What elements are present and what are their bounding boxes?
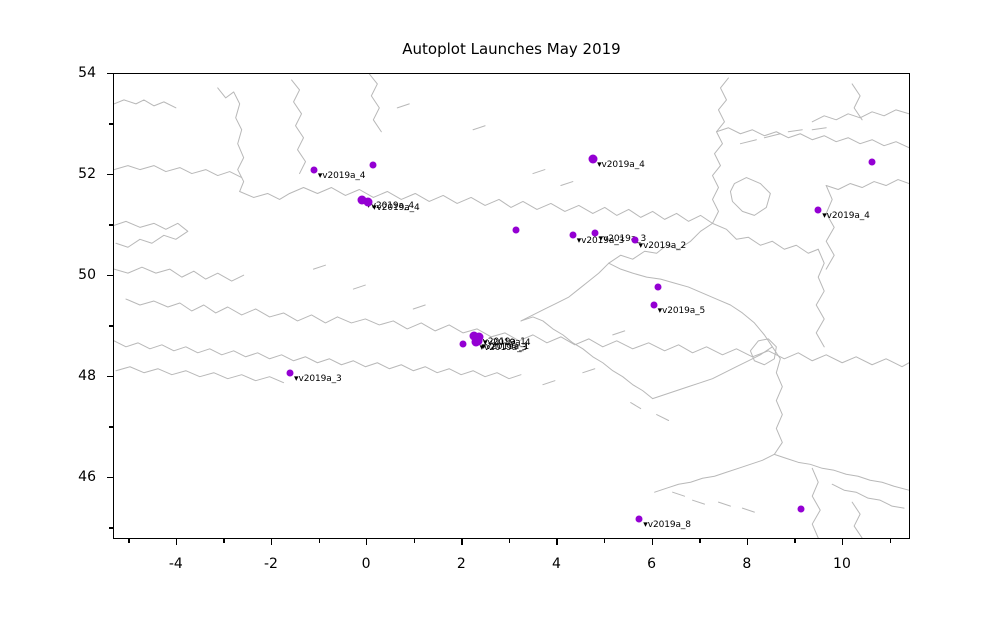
x-axis-tick-label: 10 [833,556,851,572]
data-point-label: ▾v2019a_4 [318,171,366,181]
x-axis-minor-tick [699,539,700,543]
x-axis-tick [271,539,272,545]
x-axis-tick [747,539,748,545]
data-point-label: ▾v2019a_8 [643,520,691,530]
data-point-marker[interactable] [869,159,876,166]
data-point-marker[interactable] [815,207,822,214]
y-axis-minor-tick [109,123,113,124]
data-point-marker[interactable] [650,302,657,309]
x-axis-tick [842,539,843,545]
x-axis-tick-label: 4 [552,556,561,572]
data-point-marker[interactable] [655,284,662,291]
x-axis-minor-tick [794,539,795,543]
x-axis-minor-tick [319,539,320,543]
x-axis-minor-tick [128,539,129,543]
x-axis-minor-tick [604,539,605,543]
x-axis-tick-label: 2 [457,556,466,572]
x-axis-minor-tick [414,539,415,543]
x-axis-tick [652,539,653,545]
data-point-label: ▾v2019a_4 [822,211,870,221]
data-point-marker[interactable] [591,230,598,237]
y-axis-tick-label: 52 [0,166,96,182]
data-point-label: ▾v2019a_5 [658,306,706,316]
y-axis-minor-tick [109,527,113,528]
figure-canvas: Autoplot Launches May 2019 [0,0,1003,633]
data-point-marker[interactable] [287,369,294,376]
x-axis-tick-label: 0 [362,556,371,572]
data-point-marker[interactable] [631,236,638,243]
data-point-marker[interactable] [460,341,467,348]
data-point-label: ▾v2019a_4 [372,203,420,213]
y-axis-tick-label: 46 [0,469,96,485]
basemap-coastlines [114,74,909,538]
y-axis-tick-label: 54 [0,65,96,81]
y-axis-minor-tick [109,426,113,427]
x-axis-tick-label: -2 [264,556,278,572]
x-axis-tick [461,539,462,545]
data-point-marker[interactable] [798,506,805,513]
x-axis-tick [176,539,177,545]
data-point-marker[interactable] [636,516,643,523]
data-point-label: ▾v2019a_4 [597,160,645,170]
data-point-label: ▾v2019a_3 [294,374,342,384]
x-axis-minor-tick [890,539,891,543]
y-axis-tick [107,73,113,74]
y-axis-tick [107,477,113,478]
data-point-label: ▾v2019a_3 [480,343,528,353]
x-axis-minor-tick [509,539,510,543]
data-point-marker[interactable] [369,161,376,168]
y-axis-tick [107,275,113,276]
x-axis-tick-label: -4 [169,556,183,572]
y-axis-tick-label: 50 [0,267,96,283]
x-axis-tick-label: 6 [647,556,656,572]
plot-area: ▾v2019a_4▾v2019a_4▾v2019a_4▾v2019a_4▾v20… [113,73,910,539]
x-axis-tick [366,539,367,545]
y-axis-tick [107,376,113,377]
data-point-marker[interactable] [512,226,519,233]
page-title: Autoplot Launches May 2019 [113,40,910,58]
x-axis-minor-tick [223,539,224,543]
data-point-label: ▾v2019a_2 [639,241,687,251]
y-axis-tick-label: 48 [0,368,96,384]
y-axis-minor-tick [109,325,113,326]
x-axis-tick [556,539,557,545]
data-point-marker[interactable] [569,231,576,238]
x-axis-tick-label: 8 [742,556,751,572]
y-axis-minor-tick [109,224,113,225]
y-axis-tick [107,174,113,175]
data-point-marker[interactable] [310,166,317,173]
